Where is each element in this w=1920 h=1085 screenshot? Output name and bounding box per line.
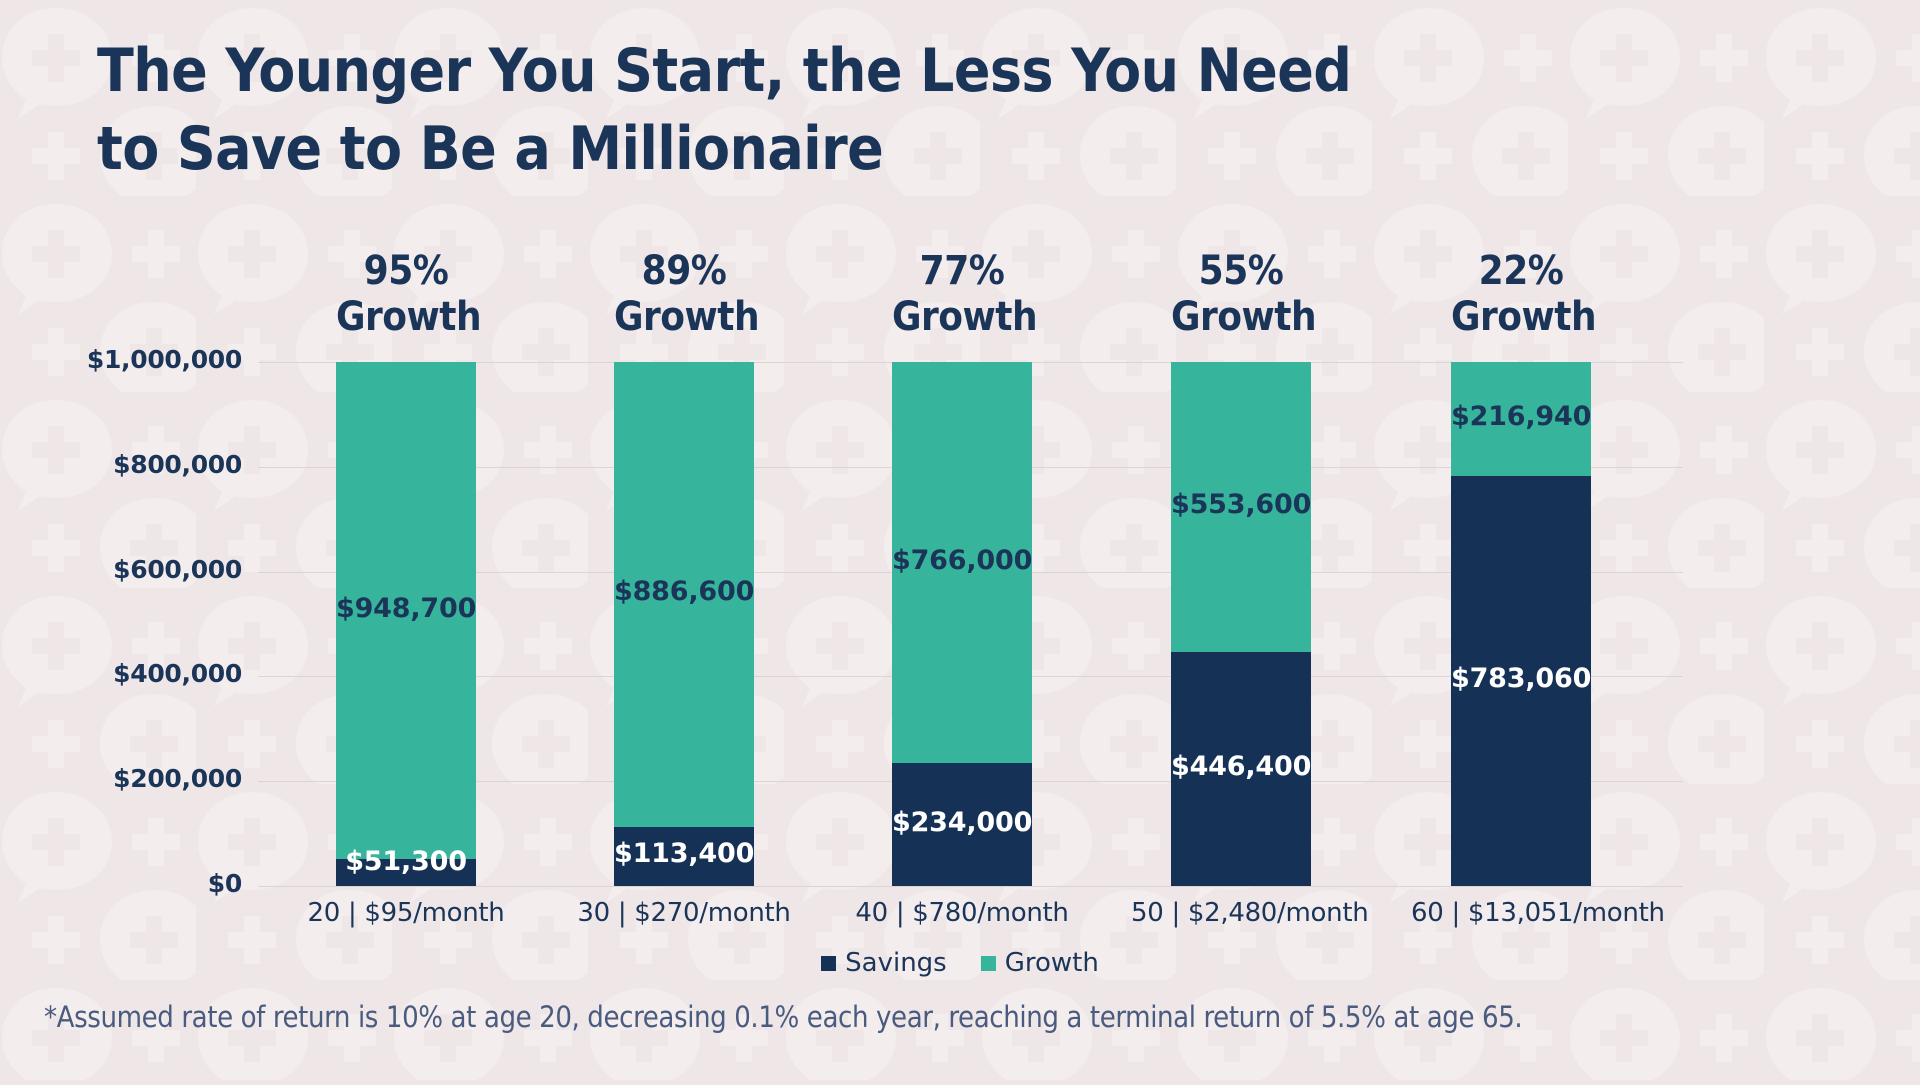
x-axis-category-label: 20 | $95/month bbox=[296, 898, 516, 928]
x-axis-category-label: 30 | $270/month bbox=[574, 898, 794, 928]
y-axis-tick-label: $400,000 bbox=[62, 659, 242, 688]
bar-group[interactable]: $886,600$113,40089%Growth30 | $270/month bbox=[614, 0, 754, 1080]
savings-value-label: $446,400 bbox=[1171, 751, 1311, 782]
y-axis-tick-label: $0 bbox=[62, 869, 242, 898]
y-axis-tick-label: $600,000 bbox=[62, 555, 242, 584]
bar-group[interactable]: $766,000$234,00077%Growth40 | $780/month bbox=[892, 0, 1032, 1080]
bar-group[interactable]: $948,700$51,30095%Growth20 | $95/month bbox=[336, 0, 476, 1080]
legend-label: Growth bbox=[1005, 948, 1099, 978]
legend-item[interactable]: Growth bbox=[981, 948, 1099, 978]
growth-value-label: $886,600 bbox=[614, 576, 754, 607]
growth-value-label: $553,600 bbox=[1171, 489, 1311, 520]
growth-percent-word: Growth bbox=[1171, 294, 1311, 340]
growth-percent-word: Growth bbox=[614, 294, 754, 340]
growth-value-label: $948,700 bbox=[336, 593, 476, 624]
bar-group[interactable]: $553,600$446,40055%Growth50 | $2,480/mon… bbox=[1171, 0, 1311, 1080]
growth-percent-annotation: 95%Growth bbox=[336, 248, 476, 341]
chart-plot-area: $0$200,000$400,000$600,000$800,000$1,000… bbox=[0, 0, 1920, 1080]
growth-percent-value: 89% bbox=[614, 248, 754, 294]
chart-footnote: *Assumed rate of return is 10% at age 20… bbox=[44, 1000, 1522, 1034]
y-axis-tick-label: $800,000 bbox=[62, 450, 242, 479]
growth-percent-word: Growth bbox=[1451, 294, 1591, 340]
x-axis-category-label: 40 | $780/month bbox=[852, 898, 1072, 928]
growth-percent-value: 95% bbox=[336, 248, 476, 294]
y-axis-tick-label: $1,000,000 bbox=[62, 345, 242, 374]
growth-value-label: $216,940 bbox=[1451, 401, 1591, 432]
chart-legend: SavingsGrowth bbox=[0, 948, 1920, 978]
bar-group[interactable]: $216,940$783,06022%Growth60 | $13,051/mo… bbox=[1451, 0, 1591, 1080]
legend-label: Savings bbox=[845, 948, 947, 978]
y-axis-tick-label: $200,000 bbox=[62, 764, 242, 793]
growth-value-label: $766,000 bbox=[892, 545, 1032, 576]
legend-item[interactable]: Savings bbox=[821, 948, 947, 978]
growth-percent-annotation: 77%Growth bbox=[892, 248, 1032, 341]
growth-percent-word: Growth bbox=[892, 294, 1032, 340]
growth-percent-value: 77% bbox=[892, 248, 1032, 294]
savings-value-label: $113,400 bbox=[614, 838, 754, 869]
growth-percent-value: 22% bbox=[1451, 248, 1591, 294]
legend-swatch-icon bbox=[981, 956, 996, 971]
x-axis-category-label: 50 | $2,480/month bbox=[1131, 898, 1351, 928]
legend-swatch-icon bbox=[821, 956, 836, 971]
growth-percent-annotation: 55%Growth bbox=[1171, 248, 1311, 341]
savings-value-label: $783,060 bbox=[1451, 663, 1591, 694]
x-axis-category-label: 60 | $13,051/month bbox=[1411, 898, 1631, 928]
growth-percent-annotation: 22%Growth bbox=[1451, 248, 1591, 341]
growth-percent-word: Growth bbox=[336, 294, 476, 340]
savings-value-label: $234,000 bbox=[892, 807, 1032, 838]
growth-percent-value: 55% bbox=[1171, 248, 1311, 294]
growth-percent-annotation: 89%Growth bbox=[614, 248, 754, 341]
savings-value-label: $51,300 bbox=[336, 846, 476, 877]
